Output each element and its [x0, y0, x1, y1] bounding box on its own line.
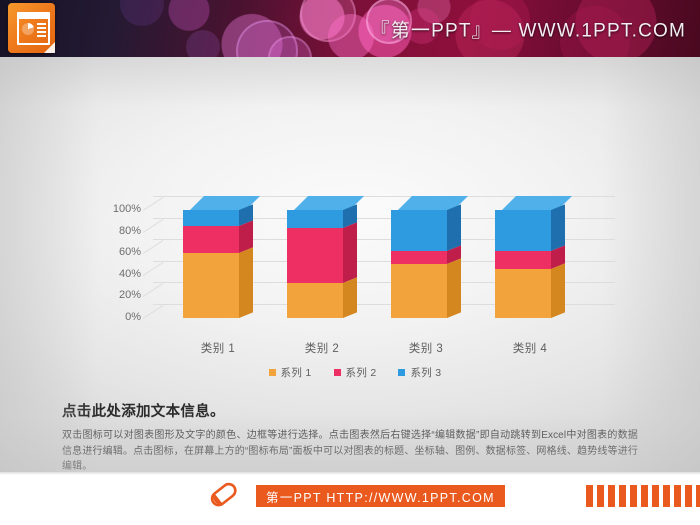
- bar-column[interactable]: [183, 210, 239, 318]
- bar-side: [551, 264, 565, 318]
- text-block: 点击此处添加文本信息。 双击图标可以对图表图形及文字的颜色、边框等进行选择。点击…: [62, 400, 638, 475]
- bar-side: [447, 204, 461, 251]
- y-axis-tick-label: 0%: [99, 311, 141, 323]
- y-axis-tick-label: 100%: [99, 203, 141, 215]
- bar-segment[interactable]: [183, 226, 239, 253]
- slide-canvas: 0%20%40%60%80%100% 类别 1类别 2类别 3类别 4 系列 1…: [0, 57, 700, 472]
- gridline-connector: [143, 240, 164, 254]
- text-lines-icon: [37, 23, 46, 39]
- legend-swatch: [398, 369, 405, 376]
- bar-segment[interactable]: [495, 269, 551, 318]
- bokeh-circle: [186, 30, 220, 57]
- document-titlebar: [19, 14, 48, 19]
- bar-side: [343, 278, 357, 318]
- bar-segment[interactable]: [391, 264, 447, 318]
- bar-side: [447, 258, 461, 318]
- gridline-connector: [143, 283, 164, 297]
- legend-item[interactable]: 系列 1: [269, 365, 312, 380]
- bar-face: [287, 283, 343, 318]
- legend-swatch: [334, 369, 341, 376]
- bar-side: [239, 248, 253, 318]
- chart-plot-area: 0%20%40%60%80%100%: [95, 152, 615, 332]
- header-banner: 『第一PPT』— WWW.1PPT.COM: [0, 0, 700, 57]
- bar-face: [495, 269, 551, 318]
- legend-label: 系列 3: [410, 365, 441, 380]
- bar-segment[interactable]: [287, 210, 343, 228]
- text-body: 双击图标可以对图表图形及文字的颜色、边框等进行选择。点击图表然后右键选择“编辑数…: [62, 428, 638, 475]
- bar-face: [183, 226, 239, 253]
- bar-face: [287, 228, 343, 283]
- legend-item[interactable]: 系列 2: [334, 365, 377, 380]
- chart-legend[interactable]: 系列 1系列 2系列 3: [95, 365, 615, 380]
- y-axis-tick-label: 40%: [99, 268, 141, 280]
- category-label: 类别 2: [262, 340, 382, 356]
- powerpoint-document-icon: [8, 3, 55, 53]
- footer-separator: [0, 472, 700, 475]
- bar-face: [287, 210, 343, 228]
- category-label: 类别 4: [470, 340, 590, 356]
- legend-label: 系列 1: [281, 365, 312, 380]
- gridline-connector: [143, 262, 164, 276]
- bar-face: [183, 210, 239, 226]
- pie-chart-icon: [22, 23, 34, 35]
- pen-icon: [205, 480, 243, 510]
- bar-column[interactable]: [391, 210, 447, 318]
- category-label: 类别 1: [158, 340, 278, 356]
- slide: 『第一PPT』— WWW.1PPT.COM 0%20%40%60%80%100%…: [0, 0, 700, 525]
- y-axis-tick-label: 20%: [99, 289, 141, 301]
- bar-face: [495, 210, 551, 251]
- bar-side: [551, 204, 565, 251]
- bar-column[interactable]: [495, 210, 551, 318]
- bar-face: [391, 264, 447, 318]
- gridline-connector: [143, 219, 164, 233]
- footer-url-bar: 第一PPT HTTP://WWW.1PPT.COM: [256, 485, 505, 507]
- bar-segment[interactable]: [183, 253, 239, 318]
- bokeh-circle: [120, 0, 164, 26]
- bar-side: [343, 223, 357, 284]
- stacked-bar-chart[interactable]: 0%20%40%60%80%100% 类别 1类别 2类别 3类别 4 系列 1…: [95, 152, 615, 367]
- gridline-connector: [143, 305, 164, 319]
- y-axis-tick-labels: 0%20%40%60%80%100%: [95, 152, 141, 332]
- bar-segment[interactable]: [287, 228, 343, 283]
- bar-segment[interactable]: [495, 251, 551, 269]
- legend-swatch: [269, 369, 276, 376]
- bar-face: [391, 210, 447, 251]
- header-title: 『第一PPT』— WWW.1PPT.COM: [371, 15, 686, 42]
- bar-segment[interactable]: [391, 210, 447, 251]
- bar-segment[interactable]: [495, 210, 551, 251]
- bar-face: [495, 251, 551, 269]
- y-axis-tick-label: 60%: [99, 246, 141, 258]
- gridline-connector: [143, 197, 164, 211]
- legend-item[interactable]: 系列 3: [398, 365, 441, 380]
- footer-stripes-decoration: [586, 485, 700, 507]
- footer: 第一PPT HTTP://WWW.1PPT.COM: [0, 472, 700, 525]
- bar-face: [391, 251, 447, 264]
- text-title: 点击此处添加文本信息。: [62, 400, 638, 421]
- document-outline-icon: [17, 12, 50, 45]
- bar-column[interactable]: [287, 210, 343, 318]
- bar-segment[interactable]: [287, 283, 343, 318]
- category-label: 类别 3: [366, 340, 486, 356]
- bar-face: [183, 253, 239, 318]
- y-axis-tick-label: 80%: [99, 225, 141, 237]
- bar-segment[interactable]: [183, 210, 239, 226]
- legend-label: 系列 2: [346, 365, 377, 380]
- bar-segment[interactable]: [391, 251, 447, 264]
